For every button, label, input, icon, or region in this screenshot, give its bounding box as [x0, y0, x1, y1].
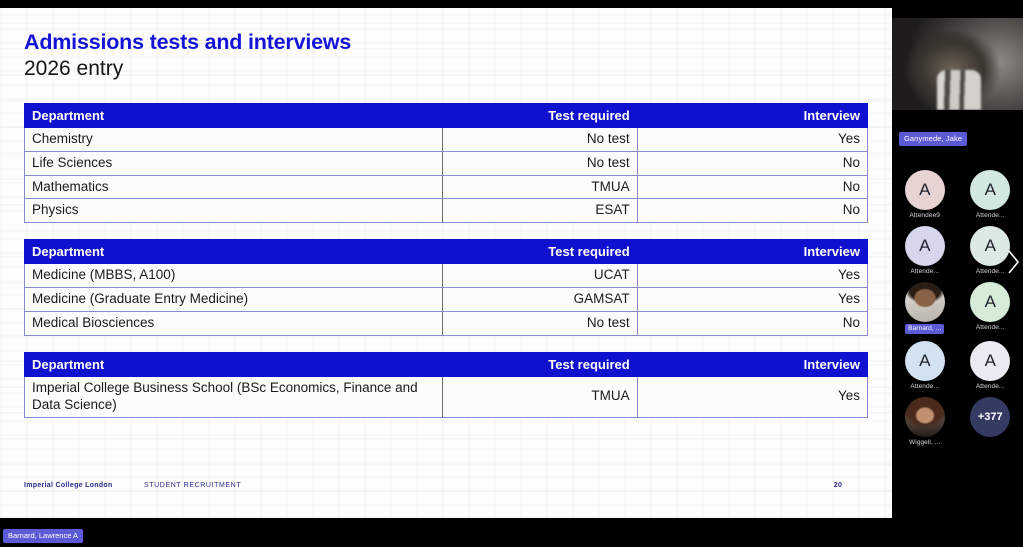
cell-interview: Yes: [637, 376, 867, 417]
admissions-table-2: Department Test required Interview Medic…: [24, 239, 868, 336]
attendee-tile[interactable]: Wiggell, ...: [894, 397, 956, 446]
column-header-interview: Interview: [637, 352, 867, 376]
active-speaker-tile[interactable]: [892, 18, 1023, 110]
top-letterbox-bar: [0, 0, 1023, 8]
cell-department: Imperial College Business School (BSc Ec…: [25, 376, 443, 417]
slide-title: Admissions tests and interviews: [24, 30, 868, 55]
cell-department: Medicine (Graduate Entry Medicine): [25, 288, 443, 312]
attendee-overflow-tile[interactable]: +377: [959, 397, 1021, 446]
admissions-table-3: Department Test required Interview Imper…: [24, 352, 868, 418]
cell-test-required: No test: [443, 127, 637, 151]
cell-interview: Yes: [637, 127, 867, 151]
footer-page-number: 20: [808, 482, 868, 489]
table-header-row: Department Test required Interview: [25, 103, 868, 127]
cell-test-required: TMUA: [443, 376, 637, 417]
participant-rail: Ganymede, Jake A Attendee9 A Attende... …: [892, 0, 1023, 547]
attendee-tile[interactable]: A Attende...: [959, 170, 1021, 219]
footer-brand: Imperial College London: [24, 482, 144, 489]
attendee-tile[interactable]: A Attendee9: [894, 170, 956, 219]
cell-department: Physics: [25, 199, 443, 223]
column-header-interview: Interview: [637, 240, 867, 264]
avatar: A: [970, 282, 1010, 322]
table-row: Mathematics TMUA No: [25, 175, 868, 199]
admissions-table-1: Department Test required Interview Chemi…: [24, 103, 868, 224]
cell-interview: No: [637, 312, 867, 336]
cell-test-required: TMUA: [443, 175, 637, 199]
slide-subtitle: 2026 entry: [24, 57, 868, 81]
attendee-name: Barnard, ...: [905, 324, 944, 334]
attendee-name: Attendee9: [909, 212, 940, 219]
avatar: A: [905, 226, 945, 266]
column-header-department: Department: [25, 352, 443, 376]
cell-department: Mathematics: [25, 175, 443, 199]
overflow-count-badge: +377: [970, 397, 1010, 437]
column-header-test-required: Test required: [443, 352, 637, 376]
cell-test-required: UCAT: [443, 264, 637, 288]
cell-department: Medical Biosciences: [25, 312, 443, 336]
attendee-name: Attende...: [976, 383, 1005, 390]
local-participant-name: Barnard, Lawrence A: [3, 529, 83, 543]
table-row: Chemistry No test Yes: [25, 127, 868, 151]
cell-test-required: ESAT: [443, 199, 637, 223]
cell-interview: No: [637, 151, 867, 175]
table-row: Medicine (MBBS, A100) UCAT Yes: [25, 264, 868, 288]
slide-content: Admissions tests and interviews 2026 ent…: [0, 30, 892, 418]
meeting-stage: Admissions tests and interviews 2026 ent…: [0, 0, 1023, 547]
avatar: A: [905, 170, 945, 210]
avatar: [905, 282, 945, 322]
slide-footer: Imperial College London STUDENT RECRUITM…: [24, 482, 868, 489]
avatar: A: [970, 341, 1010, 381]
attendee-name: Wiggell, ...: [909, 439, 941, 446]
attendee-tile[interactable]: A Attende...: [959, 341, 1021, 390]
chevron-right-icon[interactable]: [1005, 247, 1021, 277]
attendee-tile[interactable]: A Attende...: [959, 282, 1021, 334]
column-header-department: Department: [25, 240, 443, 264]
attendee-tile[interactable]: A Attende...: [894, 226, 956, 275]
column-header-department: Department: [25, 103, 443, 127]
cell-department: Chemistry: [25, 127, 443, 151]
table-row: Medicine (Graduate Entry Medicine) GAMSA…: [25, 288, 868, 312]
avatar: A: [905, 341, 945, 381]
cell-interview: Yes: [637, 264, 867, 288]
cell-department: Medicine (MBBS, A100): [25, 264, 443, 288]
attendee-name: Attende...: [910, 383, 939, 390]
footer-department: STUDENT RECRUITMENT: [144, 482, 808, 489]
attendee-grid: A Attendee9 A Attende... A Attende... A …: [892, 170, 1023, 446]
column-header-test-required: Test required: [443, 240, 637, 264]
cell-interview: Yes: [637, 288, 867, 312]
attendee-tile[interactable]: A Attende...: [894, 341, 956, 390]
cell-test-required: No test: [443, 151, 637, 175]
cell-test-required: GAMSAT: [443, 288, 637, 312]
table-row: Medical Biosciences No test No: [25, 312, 868, 336]
cell-interview: No: [637, 199, 867, 223]
attendee-name: Attende...: [910, 268, 939, 275]
table-row: Life Sciences No test No: [25, 151, 868, 175]
table-row: Imperial College Business School (BSc Ec…: [25, 376, 868, 417]
attendee-name: Attende...: [976, 268, 1005, 275]
cell-interview: No: [637, 175, 867, 199]
cell-department: Life Sciences: [25, 151, 443, 175]
attendee-name: Attende...: [976, 212, 1005, 219]
table-header-row: Department Test required Interview: [25, 352, 868, 376]
active-speaker-name: Ganymede, Jake: [899, 132, 967, 146]
table-row: Physics ESAT No: [25, 199, 868, 223]
shared-slide[interactable]: Admissions tests and interviews 2026 ent…: [0, 8, 892, 518]
attendee-name: Attende...: [976, 324, 1005, 331]
active-speaker-video: [892, 18, 1023, 110]
avatar: A: [970, 170, 1010, 210]
column-header-interview: Interview: [637, 103, 867, 127]
table-header-row: Department Test required Interview: [25, 240, 868, 264]
attendee-tile[interactable]: Barnard, ...: [894, 282, 956, 334]
cell-test-required: No test: [443, 312, 637, 336]
avatar: [905, 397, 945, 437]
column-header-test-required: Test required: [443, 103, 637, 127]
